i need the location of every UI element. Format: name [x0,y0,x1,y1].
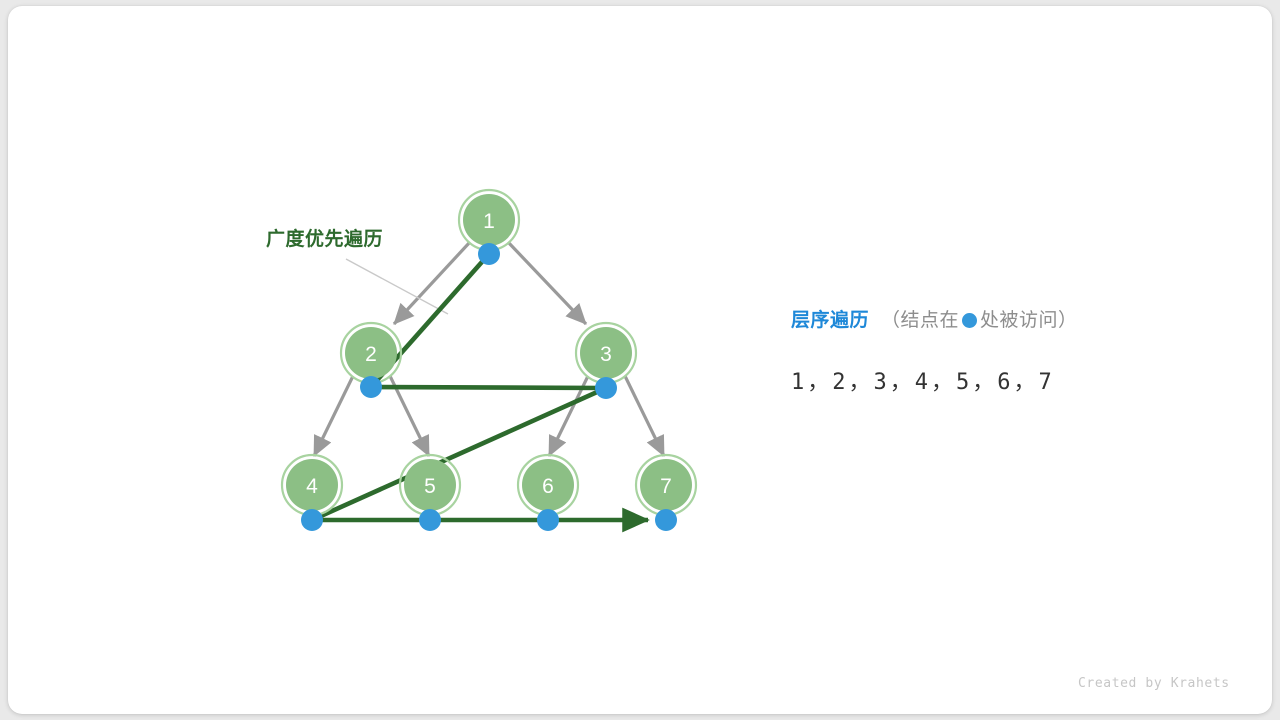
panel-note-before: （结点在 [881,310,959,331]
author-credit: Created by Krahets [1078,676,1230,691]
visit-marker-dot-icon [962,313,977,328]
panel-note-after: 处被访问） [980,310,1078,331]
panel-title: 层序遍历 [791,308,869,334]
tree-node-7[interactable]: 7 [636,455,696,515]
tree-edge-2-4 [314,376,353,456]
traversal-sequence: 1，2，3，4，5，6，7 [791,364,1211,396]
path-2-3 [371,387,606,388]
visit-dot-node-3[interactable] [595,377,617,399]
node-value: 6 [542,475,554,498]
panel-heading: 层序遍历 （结点在处被访问） [791,308,1211,334]
visit-dot-node-2[interactable] [360,376,382,398]
traversal-info-panel: 层序遍历 （结点在处被访问） 1，2，3，4，5，6，7 [791,308,1211,396]
node-value: 1 [483,210,495,233]
tree-node-3[interactable]: 3 [576,323,636,383]
caption-leader-line [346,259,448,314]
node-value: 7 [660,475,672,498]
visit-dot-node-4[interactable] [301,509,323,531]
visit-dot-node-6[interactable] [537,509,559,531]
tree-node-1[interactable]: 1 [459,190,519,250]
tree-edge-1-3 [508,242,586,324]
visit-dot-node-1[interactable] [478,243,500,265]
node-value: 3 [600,343,612,366]
tree-edge-1-2 [394,242,470,324]
tree-node-4[interactable]: 4 [282,455,342,515]
visit-dot-node-7[interactable] [655,509,677,531]
node-value: 2 [365,343,377,366]
tree-node-5[interactable]: 5 [400,455,460,515]
bfs-caption-label: 广度优先遍历 [266,224,383,251]
tree-edge-3-7 [625,376,664,456]
panel-note: （结点在处被访问） [881,308,1078,334]
screenshot-root: 1 2 3 4 [0,0,1280,720]
node-value: 5 [424,475,436,498]
visit-dot-node-5[interactable] [419,509,441,531]
tree-node-2[interactable]: 2 [341,323,401,383]
node-value: 4 [306,475,318,498]
content-card: 1 2 3 4 [8,6,1272,714]
tree-node-6[interactable]: 6 [518,455,578,515]
